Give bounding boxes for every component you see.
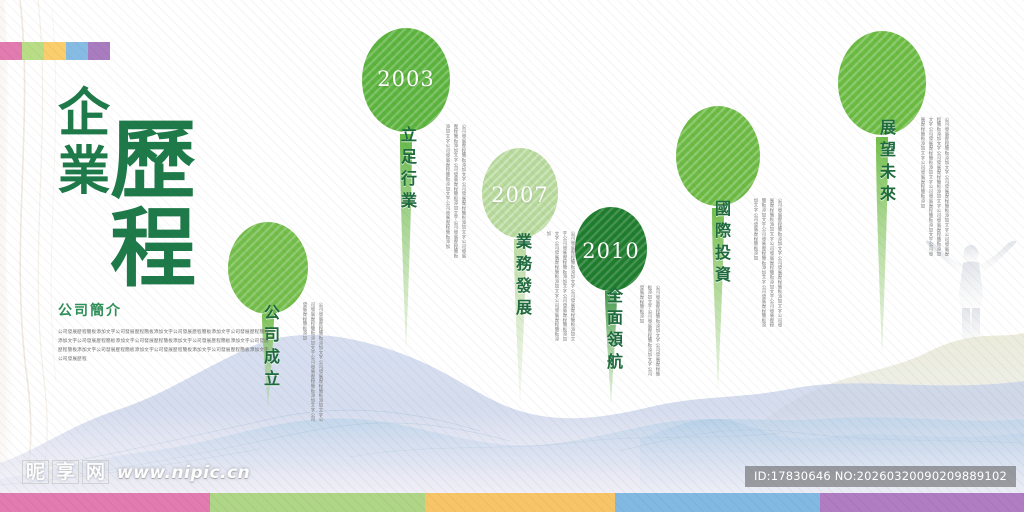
company-intro-block: 公司簡介 公司發展歷程簡板添加文字公司發展歷程簡板添加文字公司發展歷程簡板添加文…	[58, 300, 273, 364]
timeline-item-4[interactable]: 2010 全面領航 公司發展歷程簡板添加文字公司發展歷程簡板添加文字公司發展歷程…	[563, 205, 659, 420]
watermark-logo-char-3: 网	[82, 460, 109, 484]
footer-color-band	[0, 493, 1024, 512]
timeline-item-6[interactable]: 展望未來 公司發展歷程簡板添加文字公司發展歷程簡板添加文字公司發展歷程簡板添加文…	[826, 25, 938, 355]
title-char-2: 業	[58, 146, 110, 198]
timeline-caption-3: 業務發展	[514, 233, 530, 321]
timeline-body-6: 公司發展歷程簡板添加文字公司發展歷程簡板添加文字公司發展歷程簡板添加文字公司發展…	[906, 117, 950, 257]
accent-color-chips	[0, 42, 110, 60]
company-intro-body: 公司發展歷程簡板添加文字公司發展歷程簡板添加文字公司發展歷程簡板添加文字公司發展…	[58, 328, 273, 364]
timeline-year-2: 2003	[351, 67, 461, 91]
timeline-body-1: 公司發展歷程簡板添加文字公司發展歷程簡板添加文字公司發展歷程簡板添加文字公司發展…	[290, 302, 324, 422]
timeline-body-4: 公司發展歷程簡板添加文字公司發展歷程簡板添加文字公司發展歷程簡板添加文字公司發展…	[633, 285, 661, 380]
image-id-tag: ID:17830646 NO:20260320090209889102	[745, 466, 1016, 487]
title-char-4: 程	[110, 206, 196, 292]
accent-chip-5	[88, 42, 110, 60]
timeline-caption-4: 全面領航	[605, 287, 621, 375]
watermark-logo: 昵 享 网	[22, 460, 109, 484]
timeline-item-5[interactable]: 國際投資 公司發展歷程簡板添加文字公司發展歷程簡板添加文字公司發展歷程簡板添加文…	[663, 100, 773, 390]
timeline-body-2: 公司發展歷程簡板添加文字公司發展歷程簡板添加文字公司發展歷程簡板添加文字公司發展…	[427, 124, 467, 259]
accent-chip-2	[22, 42, 44, 60]
footer-segment-3	[425, 493, 615, 512]
watermark-logo-char-2: 享	[52, 460, 79, 484]
timeline-caption-6: 展望未來	[878, 119, 894, 207]
page-title: 企 業 歷 程	[52, 88, 262, 293]
accent-chip-1	[0, 42, 22, 60]
timeline-year-4: 2010	[563, 239, 659, 263]
site-watermark: 昵 享 网 www.nipic.cn	[22, 460, 250, 484]
footer-segment-5	[820, 493, 1024, 512]
timeline-body-5: 公司發展歷程簡板添加文字公司發展歷程簡板添加文字公司發展歷程簡板添加文字公司發展…	[741, 198, 783, 328]
watermark-url: www.nipic.cn	[117, 463, 250, 484]
footer-segment-2	[210, 493, 425, 512]
watermark-logo-char-1: 昵	[22, 460, 49, 484]
poster-canvas: 公司成立 公司發展歷程簡板添加文字公司發展歷程簡板添加文字公司發展歷程簡板添加文…	[0, 0, 1024, 512]
footer-segment-4	[615, 493, 820, 512]
accent-chip-3	[44, 42, 66, 60]
company-intro-heading: 公司簡介	[58, 300, 273, 320]
footer-segment-1	[0, 493, 210, 512]
title-char-3: 歷	[110, 118, 196, 204]
title-char-1: 企	[58, 88, 110, 140]
accent-chip-4	[66, 42, 88, 60]
timeline-item-3[interactable]: 2007 業務發展 公司發展歷程簡板添加文字公司發展歷程簡板添加文字公司發展歷程…	[470, 145, 570, 405]
timeline-caption-5: 國際投資	[713, 200, 729, 288]
timeline-caption-2: 立足行業	[399, 126, 415, 214]
timeline-item-2[interactable]: 2003 立足行業 公司發展歷程簡板添加文字公司發展歷程簡板添加文字公司發展歷程…	[351, 22, 461, 352]
timeline-year-3: 2007	[470, 183, 570, 207]
